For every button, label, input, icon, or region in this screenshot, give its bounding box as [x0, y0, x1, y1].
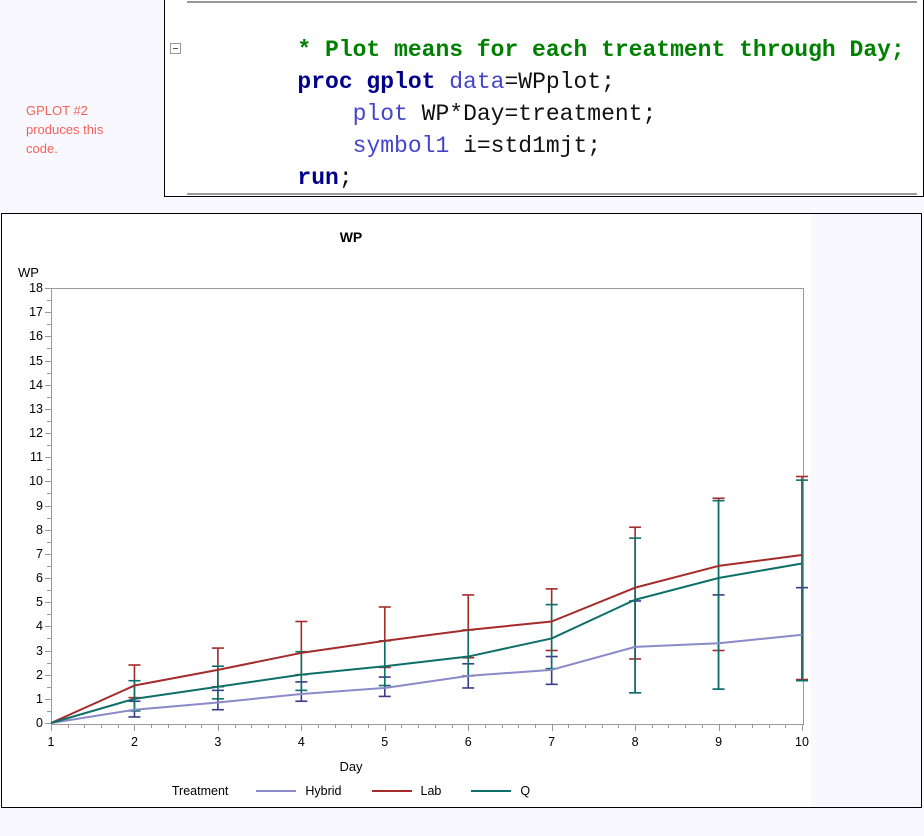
y-axis-tick-label: 14	[13, 378, 43, 392]
legend-swatch-icon	[256, 790, 296, 792]
x-axis-label: Day	[2, 759, 700, 774]
legend-item-lab[interactable]: Lab	[372, 784, 442, 798]
x-axis-tick-mark	[134, 724, 135, 731]
code-line-quit: quit;	[165, 162, 923, 194]
x-axis-tick-mark	[635, 724, 636, 731]
y-axis-tick-label: 12	[13, 426, 43, 440]
series-line-q	[51, 564, 802, 724]
x-axis-tick-mark	[218, 724, 219, 731]
gplot-output-panel: WP WP Day 012345678910111213141516171812…	[1, 213, 922, 808]
legend-swatch-icon	[471, 790, 511, 792]
y-axis-label: WP	[18, 265, 39, 280]
series-line-hybrid	[51, 635, 802, 723]
plot-series-layer	[51, 288, 802, 723]
y-axis-tick-label: 9	[13, 499, 43, 513]
code-line-comment: * Plot means for each treatment through …	[165, 2, 923, 34]
y-axis-tick-label: 2	[13, 668, 43, 682]
code-line-run: run;	[165, 130, 923, 162]
x-axis-tick-label: 6	[448, 735, 488, 749]
x-axis-tick-mark	[802, 724, 803, 731]
annotation-line-3: code.	[26, 139, 146, 158]
y-axis-tick-label: 4	[13, 619, 43, 633]
sas-code-panel: * Plot means for each treatment through …	[164, 0, 924, 197]
code-line-plot-statement: plot WP*Day=treatment;	[165, 66, 923, 98]
legend-item-hybrid[interactable]: Hybrid	[256, 784, 341, 798]
code-line-symbol-statement: symbol1 i=std1mjt;	[165, 98, 923, 130]
chart-canvas: WP WP Day 012345678910111213141516171812…	[2, 214, 811, 807]
series-line-lab	[51, 555, 802, 723]
x-axis-tick-label: 5	[365, 735, 405, 749]
y-axis-tick-label: 5	[13, 595, 43, 609]
x-axis-tick-label: 8	[615, 735, 655, 749]
y-axis-tick-label: 0	[13, 716, 43, 730]
slide-page: GPLOT #2 produces this code. * Plot mean…	[0, 0, 924, 836]
x-axis-tick-label: 2	[114, 735, 154, 749]
y-axis-tick-label: 13	[13, 402, 43, 416]
x-axis-tick-mark	[385, 724, 386, 731]
y-axis-tick-label: 16	[13, 329, 43, 343]
legend-label: Lab	[421, 784, 442, 798]
x-axis-tick-mark	[552, 724, 553, 731]
x-axis-tick-label: 9	[699, 735, 739, 749]
x-axis-tick-label: 3	[198, 735, 238, 749]
annotation-line-1: GPLOT #2	[26, 101, 146, 120]
x-axis-tick-mark	[51, 724, 52, 731]
annotation-gplot-note: GPLOT #2 produces this code.	[26, 101, 146, 158]
code-line-proc-gplot: proc gplot data=WPplot;	[165, 34, 923, 66]
sas-code-body: * Plot means for each treatment through …	[165, 0, 923, 196]
x-axis-tick-mark	[468, 724, 469, 731]
code-collapse-toggle-icon[interactable]	[170, 43, 181, 54]
y-axis-tick-label: 10	[13, 474, 43, 488]
y-axis-tick-label: 17	[13, 305, 43, 319]
chart-title: WP	[2, 229, 700, 245]
x-axis-tick-mark	[719, 724, 720, 731]
y-axis-tick-label: 15	[13, 354, 43, 368]
y-axis-tick-label: 11	[13, 450, 43, 464]
y-axis-tick-label: 18	[13, 281, 43, 295]
y-axis-tick-label: 8	[13, 523, 43, 537]
y-axis-tick-label: 6	[13, 571, 43, 585]
x-axis-tick-label: 4	[281, 735, 321, 749]
x-axis-tick-mark	[301, 724, 302, 731]
code-bottom-divider	[187, 193, 917, 195]
legend-title: Treatment	[172, 784, 229, 798]
legend-swatch-icon	[372, 790, 412, 792]
legend-label: Hybrid	[305, 784, 341, 798]
chart-right-margin	[811, 214, 921, 807]
y-axis-tick-label: 1	[13, 692, 43, 706]
y-axis-tick-label: 3	[13, 644, 43, 658]
y-axis-tick-label: 7	[13, 547, 43, 561]
chart-legend: Treatment HybridLabQ	[2, 784, 700, 798]
legend-item-q[interactable]: Q	[471, 784, 530, 798]
x-axis-tick-label: 1	[31, 735, 71, 749]
annotation-line-2: produces this	[26, 120, 146, 139]
legend-label: Q	[520, 784, 530, 798]
x-axis-tick-label: 7	[532, 735, 572, 749]
